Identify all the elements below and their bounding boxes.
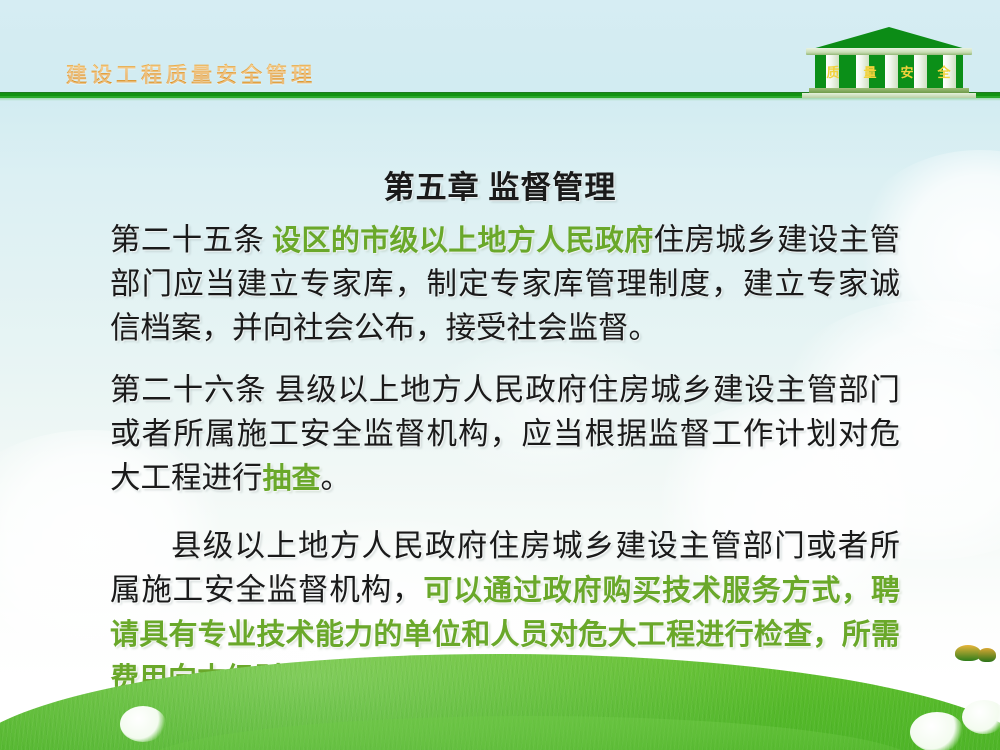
paragraph-article-26: 第二十六条 县级以上地方人民政府住房城乡建设主管部门或者所属施工安全监督机构，应… [110,368,900,500]
header-divider-glow [0,98,1000,101]
temple-column-icon [856,55,869,88]
temple-column-icon [885,55,898,88]
run-text: 。 [321,461,352,495]
flower-icon [120,706,166,742]
temple-logo: 质 量 安 全 [806,27,972,98]
flower-icon [962,700,1000,734]
temple-roof-icon [812,27,966,49]
run-text: 第二十六条 县级以上地方人民政府住房城乡建设主管部门或者所属施工安全监督机构，应… [110,373,900,495]
temple-body-icon [815,55,963,88]
bush-icon [978,648,996,662]
header-title: 建设工程质量安全管理 [66,59,316,89]
slide-canvas: 建设工程质量安全管理 质 量 安 全 第五章 监督管理 第二十五条 设区的市级以… [0,0,1000,750]
temple-column-icon [826,55,839,88]
paragraph-article-25: 第二十五条 设区的市级以上地方人民政府住房城乡建设主管部门应当建立专家库，制定专… [110,218,900,350]
run-highlight: 设区的市级以上地方人民政府 [272,223,653,257]
temple-plinth-icon [802,93,976,98]
run-text: 第二十五条 [110,223,272,257]
temple-column-icon [943,55,956,88]
run-highlight: 抽查 [263,461,321,495]
temple-architrave-icon [806,48,972,55]
flower-icon [910,712,964,750]
page-title: 第五章 监督管理 [0,162,1000,207]
temple-column-icon [914,55,927,88]
